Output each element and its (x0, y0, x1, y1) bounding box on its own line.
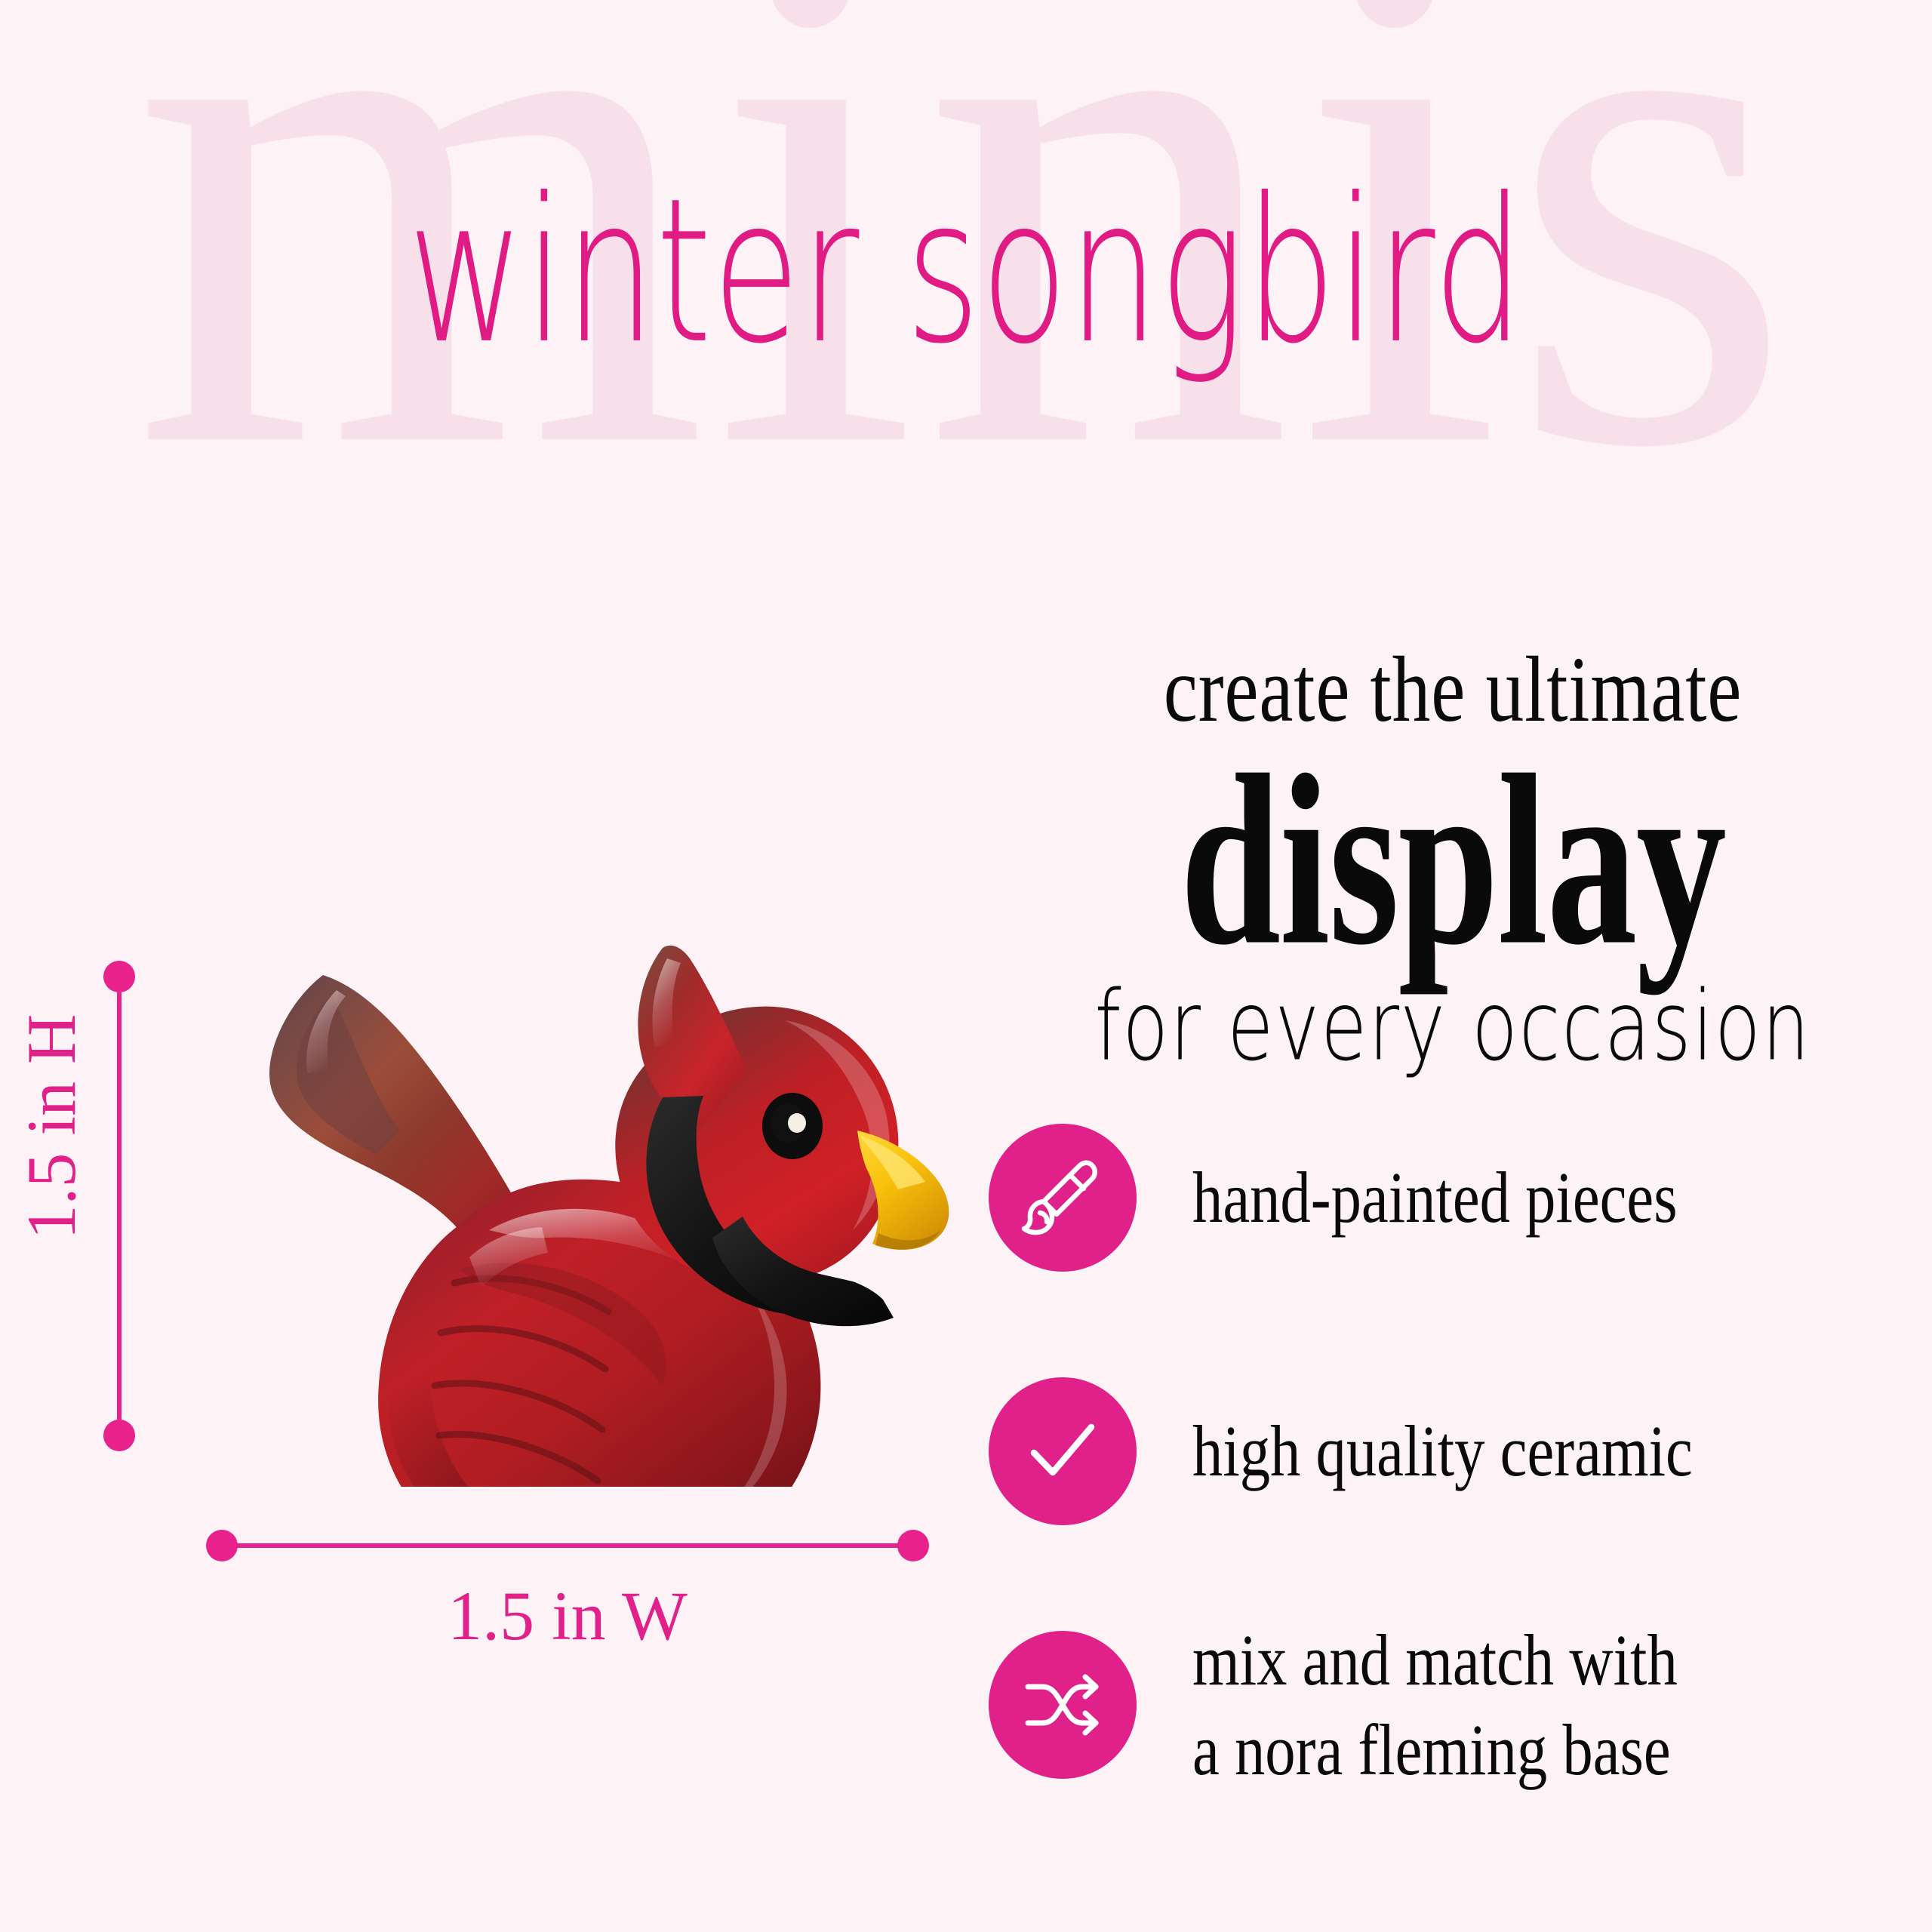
height-dimension-line (100, 957, 139, 1455)
dimension-line-horizontal (222, 1543, 913, 1548)
feature-label-line-1: high quality ceramic (1192, 1411, 1693, 1491)
bird-eye (762, 1093, 823, 1159)
dimension-cap-bottom (103, 1420, 135, 1451)
feature-label: high quality ceramic (1192, 1406, 1693, 1496)
width-dimension-line (202, 1526, 933, 1565)
feature-label-line-1: mix and match with (1192, 1615, 1678, 1705)
feature-label: hand-painted pieces (1192, 1152, 1678, 1242)
feature-list: hand-painted pieces high quality ceramic (989, 1115, 1917, 1787)
feature-label-line-2: a nora fleming base (1192, 1705, 1678, 1795)
product-image-cardinal (134, 928, 972, 1487)
dimension-line-vertical (117, 977, 122, 1435)
infographic-canvas: minis winter songbird (0, 0, 1932, 1932)
check-icon (989, 1377, 1137, 1525)
feature-item-mix-and-match: mix and match with a nora fleming base (989, 1623, 1917, 1787)
shuffle-icon (989, 1631, 1137, 1779)
feature-label-line-1: hand-painted pieces (1192, 1157, 1678, 1238)
page-title: winter songbird (193, 172, 1739, 371)
feature-item-hand-painted: hand-painted pieces (989, 1115, 1917, 1280)
dimension-cap-right (897, 1530, 929, 1561)
headline-line-1: create the ultimate (1084, 643, 1821, 737)
paintbrush-icon (989, 1124, 1137, 1272)
bird-tail (269, 975, 512, 1232)
headline-line-3: for every occasion (1066, 979, 1838, 1075)
width-dimension-label: 1.5 in W (202, 1576, 933, 1656)
headline-line-2: display (1094, 744, 1812, 977)
feature-item-high-quality: high quality ceramic (989, 1369, 1917, 1534)
headline-block: create the ultimate display for every oc… (1004, 643, 1902, 1066)
feature-label: mix and match with a nora fleming base (1192, 1615, 1678, 1795)
height-dimension-label: 1.5 in H (11, 1006, 91, 1247)
